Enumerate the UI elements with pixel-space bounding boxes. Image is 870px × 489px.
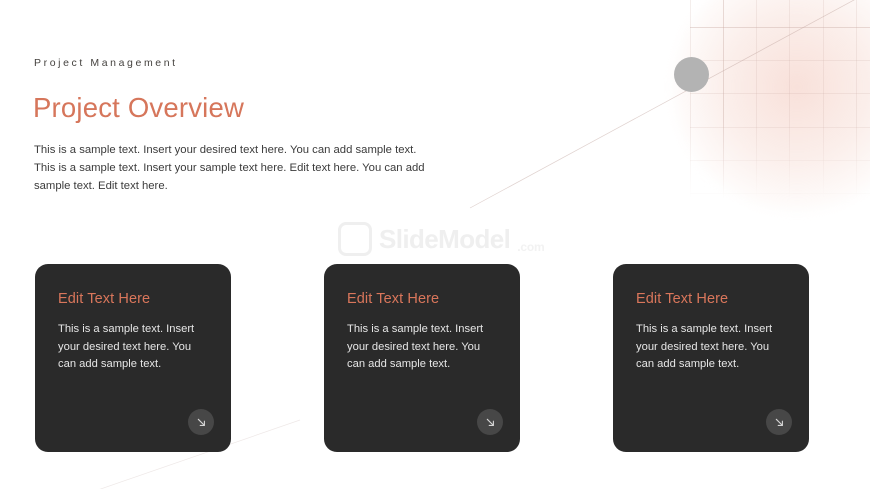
content-card[interactable]: Edit Text Here This is a sample text. In… xyxy=(35,264,231,452)
slide-canvas: Project Management Project Overview This… xyxy=(0,0,870,489)
watermark-name: SlideModel xyxy=(379,226,510,252)
card-title: Edit Text Here xyxy=(58,291,209,308)
card-title: Edit Text Here xyxy=(636,291,787,308)
arrow-down-right-icon[interactable] xyxy=(188,409,214,435)
card-body: This is a sample text. Insert your desir… xyxy=(58,321,209,373)
pink-blob-decoration xyxy=(672,0,870,212)
content-card[interactable]: Edit Text Here This is a sample text. In… xyxy=(613,264,809,452)
arrow-down-right-icon[interactable] xyxy=(477,409,503,435)
watermark-tld: .com xyxy=(517,240,544,256)
intro-paragraph: This is a sample text. Insert your desir… xyxy=(34,142,434,195)
card-body: This is a sample text. Insert your desir… xyxy=(347,321,498,373)
card-row: Edit Text Here This is a sample text. In… xyxy=(35,264,810,452)
card-title: Edit Text Here xyxy=(347,291,498,308)
card-body: This is a sample text. Insert your desir… xyxy=(636,321,787,373)
grid-pattern-decoration xyxy=(690,0,870,199)
slidemodel-logo-icon xyxy=(338,222,372,256)
arrow-down-right-icon[interactable] xyxy=(766,409,792,435)
gray-circle-decoration xyxy=(674,57,709,92)
diagonal-line-decoration xyxy=(470,0,870,208)
eyebrow-label: Project Management xyxy=(34,57,178,69)
content-card[interactable]: Edit Text Here This is a sample text. In… xyxy=(324,264,520,452)
watermark: SlideModel .com xyxy=(338,222,544,256)
page-title: Project Overview xyxy=(33,92,244,124)
